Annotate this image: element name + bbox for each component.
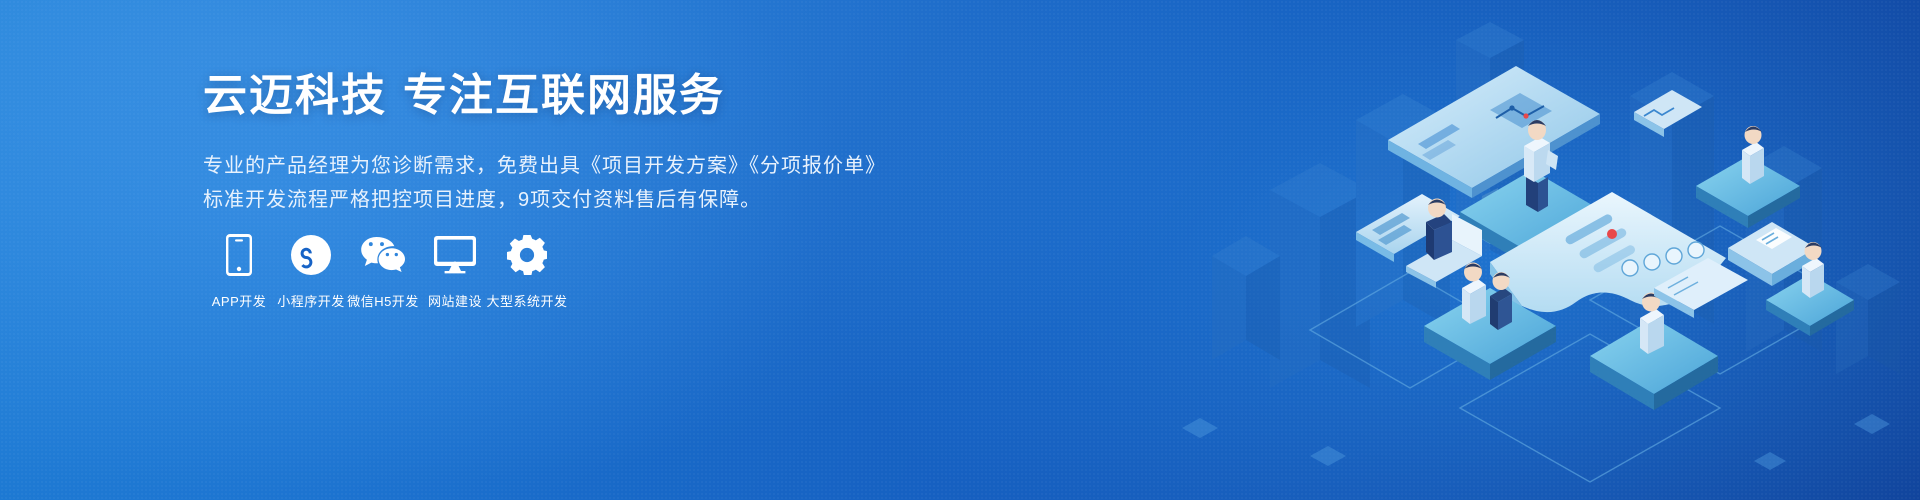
headline-tagline: 专注互联网服务 — [403, 71, 725, 120]
subtitle-line-1: 专业的产品经理为您诊断需求，免费出具《项目开发方案》《分项报价单》 — [203, 155, 886, 177]
page-title: 云迈科技专注互联网服务 — [203, 68, 886, 123]
service-list: APP开发 小程序开发 微信H5开发 — [203, 232, 563, 310]
service-label: 大型系统开发 — [487, 291, 568, 310]
mobile-phone-icon — [226, 232, 252, 278]
subtitle-line-2: 标准开发流程严格把控项目进度，9项交付资料售后有保障。 — [203, 183, 886, 217]
service-label: APP开发 — [212, 291, 267, 310]
mini-program-icon — [291, 232, 331, 278]
banner-subtitle: 专业的产品经理为您诊断需求，免费出具《项目开发方案》《分项报价单》 标准开发流程… — [203, 149, 886, 217]
wechat-icon — [360, 232, 406, 278]
service-item-website[interactable]: 网站建设 — [419, 232, 491, 310]
headline-brand: 云迈科技 — [203, 71, 387, 120]
service-item-app[interactable]: APP开发 — [203, 232, 275, 310]
service-label: 网站建设 — [428, 291, 482, 310]
isometric-team-dashboard-illustration — [1160, 0, 1920, 500]
service-item-large-system[interactable]: 大型系统开发 — [491, 232, 563, 310]
service-item-mini-program[interactable]: 小程序开发 — [275, 232, 347, 310]
banner-copy: 云迈科技专注互联网服务 专业的产品经理为您诊断需求，免费出具《项目开发方案》《分… — [203, 68, 886, 217]
hero-banner: 云迈科技专注互联网服务 专业的产品经理为您诊断需求，免费出具《项目开发方案》《分… — [0, 0, 1920, 500]
monitor-icon — [434, 232, 476, 278]
gear-icon — [507, 232, 547, 278]
service-item-wechat[interactable]: 微信H5开发 — [347, 232, 419, 310]
service-label: 小程序开发 — [277, 291, 345, 310]
service-label: 微信H5开发 — [347, 291, 419, 310]
